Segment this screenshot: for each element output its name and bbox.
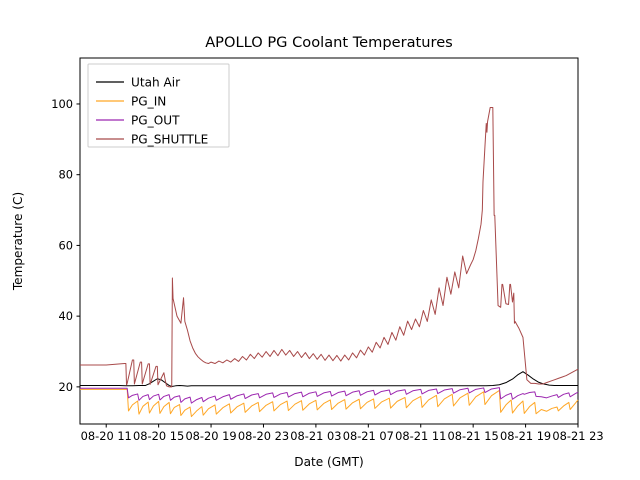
y-tick-label: 60 [59,238,74,252]
legend-label-utah-air: Utah Air [131,76,180,90]
x-tick-label: 08-21 07 [343,429,394,443]
x-tick-label: 08-21 15 [448,429,499,443]
x-tick-label: 08-20 23 [238,429,289,443]
y-tick-label: 40 [59,309,74,323]
legend-label-pg-out: PG_OUT [131,114,180,128]
x-tick-label: 08-20 15 [133,429,184,443]
y-axis-label: Temperature (C) [11,192,25,291]
temperature-time-series-chart: APOLLO PG Coolant Temperatures 204060801… [0,0,640,480]
figure-canvas: APOLLO PG Coolant Temperatures 204060801… [0,0,640,480]
legend-label-pg-shuttle: PG_SHUTTLE [131,133,208,147]
y-tick-label: 100 [51,97,73,111]
x-tick-label: 08-21 23 [552,429,603,443]
chart-legend[interactable]: Utah AirPG_INPG_OUTPG_SHUTTLE [88,64,229,147]
x-tick-label: 08-20 11 [81,429,132,443]
y-tick-label: 20 [59,380,74,394]
x-tick-label: 08-21 19 [500,429,551,443]
x-tick-label: 08-20 19 [185,429,236,443]
x-tick-label: 08-21 03 [290,429,341,443]
y-tick-label: 80 [59,168,74,182]
legend-label-pg-in: PG_IN [131,95,166,109]
x-tick-label: 08-21 11 [395,429,446,443]
chart-title: APOLLO PG Coolant Temperatures [205,34,453,51]
x-axis-label: Date (GMT) [294,455,363,469]
